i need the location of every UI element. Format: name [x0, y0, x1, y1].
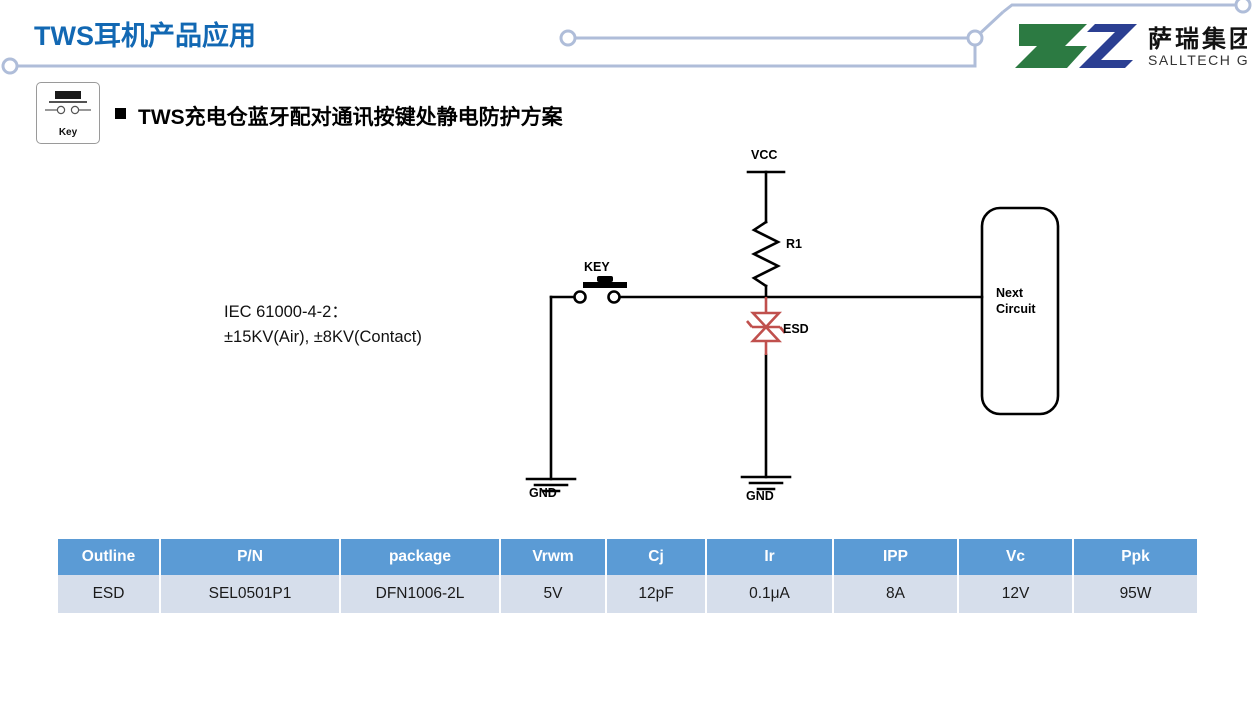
table-row: ESD SEL0501P1 DFN1006-2L 5V 12pF 0.1μA 8… — [58, 575, 1197, 613]
table-col-vc: Vc — [959, 539, 1074, 575]
cell-vc: 12V — [959, 575, 1074, 613]
cell-cj: 12pF — [607, 575, 707, 613]
cell-vrwm: 5V — [501, 575, 607, 613]
cell-package: DFN1006-2L — [341, 575, 501, 613]
gnd-right-label: GND — [746, 489, 774, 503]
table-col-ir: Ir — [707, 539, 834, 575]
key-switch-symbol — [575, 276, 628, 303]
next-circuit-label: Next Circuit — [996, 285, 1036, 317]
esd-label: ESD — [783, 322, 809, 336]
gnd-left-label: GND — [529, 486, 557, 500]
next-circuit-line1: Next — [996, 285, 1036, 301]
vcc-label: VCC — [751, 148, 777, 162]
cell-ir: 0.1μA — [707, 575, 834, 613]
cell-outline: ESD — [58, 575, 161, 613]
table-col-package: package — [341, 539, 501, 575]
cell-ppk: 95W — [1074, 575, 1197, 613]
table-col-pn: P/N — [161, 539, 341, 575]
cell-ipp: 8A — [834, 575, 959, 613]
table-header-row: Outline P/N package Vrwm Cj Ir IPP Vc Pp… — [58, 539, 1197, 575]
cell-pn: SEL0501P1 — [161, 575, 341, 613]
table-col-ppk: Ppk — [1074, 539, 1197, 575]
table-col-ipp: IPP — [834, 539, 959, 575]
key-label: KEY — [584, 260, 610, 274]
table-col-cj: Cj — [607, 539, 707, 575]
table-col-outline: Outline — [58, 539, 161, 575]
r1-label: R1 — [786, 237, 802, 251]
esd-tvs-diode-symbol — [747, 297, 785, 355]
table-col-vrwm: Vrwm — [501, 539, 607, 575]
spec-table: Outline P/N package Vrwm Cj Ir IPP Vc Pp… — [58, 539, 1197, 613]
next-circuit-line2: Circuit — [996, 301, 1036, 317]
resistor-r1-symbol — [754, 222, 778, 286]
